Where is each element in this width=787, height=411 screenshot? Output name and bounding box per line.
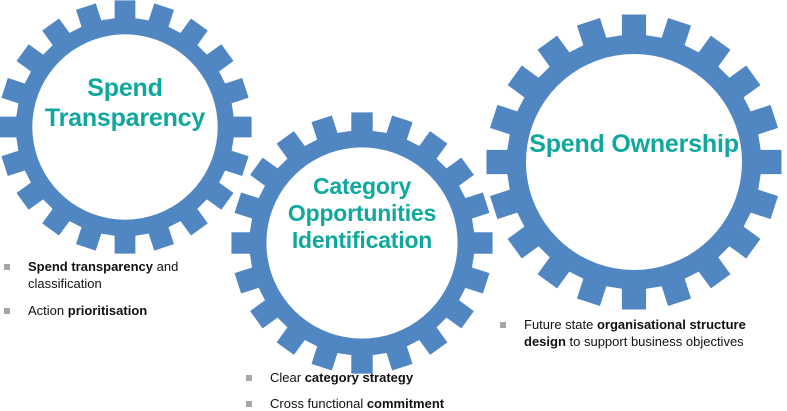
bullet-item: Action prioritisation: [4, 303, 219, 320]
gear-outline-left: [0, 0, 252, 253]
bullet-list-category-opportunities: Clear category strategyCross functional …: [246, 370, 496, 411]
bullet-square-icon: [246, 401, 252, 407]
bullet-square-icon: [500, 322, 506, 328]
bullet-list-spend-ownership: Future state organisational structure de…: [500, 317, 787, 350]
bullet-text: Cross functional commitment: [270, 396, 444, 411]
gear-spend-transparency: Spend Transparency: [0, 0, 252, 258]
gear-spend-ownership: Spend Ownership: [486, 0, 782, 330]
gear-outline-right: [486, 14, 781, 309]
bullet-item: Clear category strategy: [246, 370, 496, 387]
bullet-square-icon: [4, 264, 10, 270]
bullet-item: Future state organisational structure de…: [500, 317, 787, 350]
gear-process-diagram: Spend Transparency Category Opportunitie…: [0, 0, 787, 411]
bullet-text: Clear category strategy: [270, 370, 413, 387]
bullet-square-icon: [246, 375, 252, 381]
gear-outline-mid: [231, 112, 492, 373]
bullet-item: Spend transparency and classification: [4, 259, 219, 292]
gear-shape-left: [0, 0, 252, 258]
gear-shape-mid: [231, 108, 493, 378]
bullet-list-spend-transparency: Spend transparency and classificationAct…: [4, 259, 219, 320]
bullet-text: Future state organisational structure de…: [524, 317, 787, 350]
bullet-square-icon: [4, 308, 10, 314]
bullet-item: Cross functional commitment: [246, 396, 496, 411]
bullet-text: Spend transparency and classification: [28, 259, 219, 292]
gear-category-opportunities-identification: Category Opportunities Identification: [231, 108, 493, 378]
gear-shape-right: [486, 0, 782, 330]
bullet-text: Action prioritisation: [28, 303, 147, 320]
